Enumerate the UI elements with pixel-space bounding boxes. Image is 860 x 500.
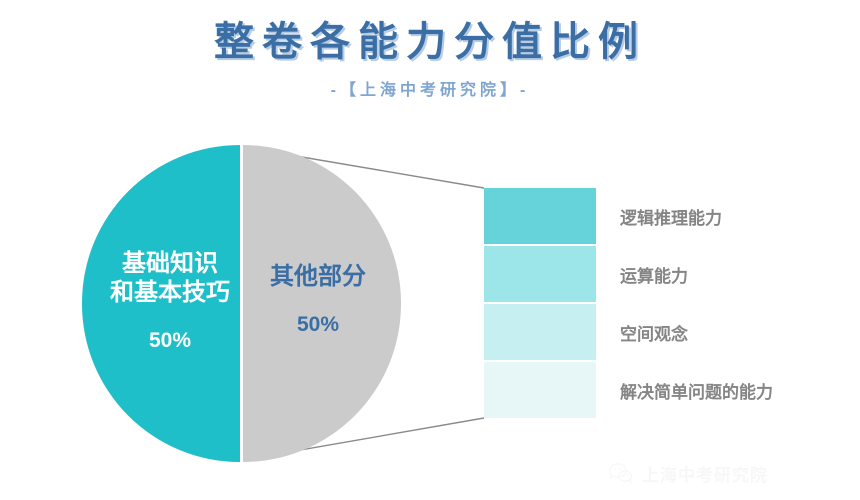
legend-item-3[interactable]: 解决简单问题的能力 — [620, 362, 773, 418]
pie-slice-label-other: 其他部分 50% — [243, 263, 393, 337]
pie-label-percent: 50% — [100, 328, 240, 353]
breakout-bar-stack — [484, 188, 596, 420]
legend-item-2[interactable]: 空间观念 — [620, 304, 773, 360]
wechat-icon — [608, 460, 634, 486]
page-subtitle: -【上海中考研究院】- — [0, 80, 860, 102]
pie-slice-label-basic-knowledge: 基础知识 和基本技巧 50% — [100, 250, 240, 353]
header: 整卷各能力分值比例 -【上海中考研究院】- — [0, 14, 860, 102]
legend-label: 运算能力 — [620, 262, 688, 287]
bar-segment-3[interactable] — [484, 362, 596, 418]
legend-label: 解决简单问题的能力 — [620, 378, 773, 403]
bar-segment-1[interactable] — [484, 246, 596, 302]
watermark-text: 上海中考研究院 — [642, 461, 768, 486]
legend-item-0[interactable]: 逻辑推理能力 — [620, 188, 773, 244]
slide-canvas: 整卷各能力分值比例 -【上海中考研究院】- 基础知识 和基本技巧 50% 其他部… — [0, 0, 860, 500]
page-title: 整卷各能力分值比例 — [0, 14, 860, 70]
watermark: 上海中考研究院 — [608, 460, 768, 486]
breakout-legend: 逻辑推理能力 运算能力 空间观念 解决简单问题的能力 — [620, 188, 773, 420]
pie-label-line-1: 其他部分 — [243, 263, 393, 292]
bar-segment-0[interactable] — [484, 188, 596, 244]
pie-label-line-1: 基础知识 — [100, 250, 240, 279]
bar-segment-2[interactable] — [484, 304, 596, 360]
pie-chart: 基础知识 和基本技巧 50% 其他部分 50% — [82, 145, 399, 462]
pie-label-line-2: 和基本技巧 — [100, 279, 240, 308]
pie-label-percent: 50% — [243, 312, 393, 337]
legend-label: 逻辑推理能力 — [620, 204, 722, 229]
legend-item-1[interactable]: 运算能力 — [620, 246, 773, 302]
legend-label: 空间观念 — [620, 320, 688, 345]
